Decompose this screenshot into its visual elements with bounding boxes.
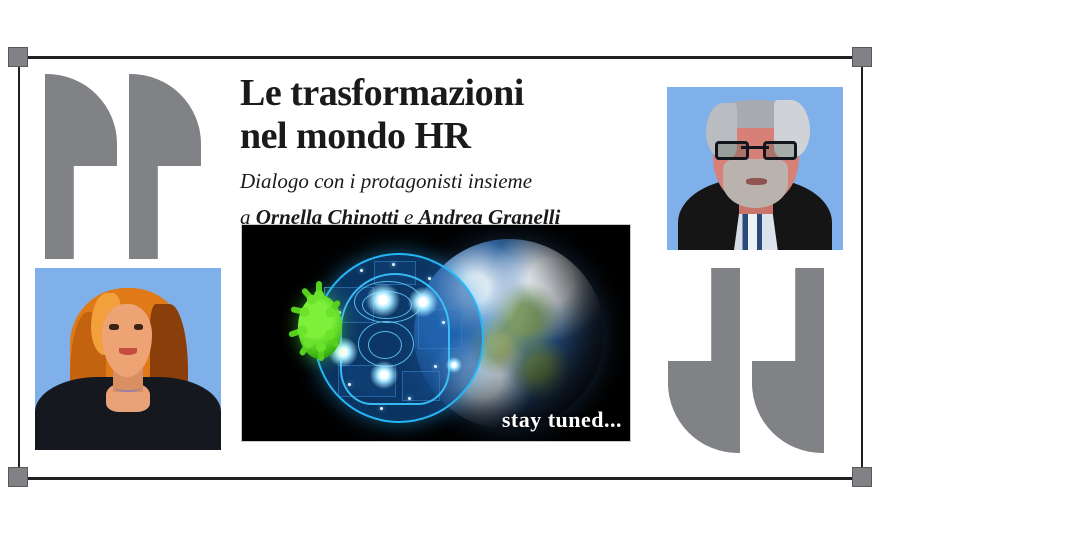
light-dot xyxy=(392,263,395,266)
node-glow xyxy=(370,361,398,389)
node-glow xyxy=(366,283,400,317)
glasses-bridge xyxy=(741,146,769,149)
light-dot xyxy=(428,277,431,280)
light-dot xyxy=(408,397,411,400)
page-subtitle: Dialogo con i protagonisti insieme xyxy=(240,169,640,194)
corner-handle-top-left[interactable] xyxy=(8,47,28,67)
frame-line-right xyxy=(861,56,863,480)
virus-spike xyxy=(316,281,322,295)
light-dot xyxy=(348,383,351,386)
virus-spike xyxy=(318,347,324,361)
page-title-line-2: nel mondo HR xyxy=(240,115,640,158)
node-glow xyxy=(446,357,462,373)
lens-right xyxy=(763,141,798,161)
virus-icon xyxy=(286,281,348,373)
quote-glyph-right xyxy=(129,74,201,259)
quote-glyph-left xyxy=(668,268,740,453)
frame-line-bottom xyxy=(18,477,863,480)
node-glow xyxy=(408,287,438,317)
closing-quote-icon xyxy=(668,268,824,453)
poster-canvas: Le trasformazioni nel mondo HR Dialogo c… xyxy=(0,0,1066,542)
corner-handle-bottom-left[interactable] xyxy=(8,467,28,487)
corner-handle-top-right[interactable] xyxy=(852,47,872,67)
necklace xyxy=(115,384,141,391)
portrait-ornella-chinotti xyxy=(35,268,221,450)
opening-quote-icon xyxy=(45,74,201,259)
frame-line-left xyxy=(18,56,20,480)
virus-spike xyxy=(301,287,315,302)
light-dot xyxy=(380,407,383,410)
brain-fold xyxy=(368,331,402,359)
portrait-andrea-granelli xyxy=(667,87,843,250)
eye-right xyxy=(134,324,143,329)
light-dot xyxy=(442,321,445,324)
headline-block: Le trasformazioni nel mondo HR Dialogo c… xyxy=(240,72,640,230)
page-title-line-1: Le trasformazioni xyxy=(240,72,640,115)
virus-spike xyxy=(290,306,305,315)
lens-left xyxy=(715,141,750,161)
eye-left xyxy=(109,324,118,329)
frame-line-top xyxy=(18,56,863,59)
quote-glyph-left xyxy=(45,74,117,259)
light-dot xyxy=(434,365,437,368)
stay-tuned-caption: stay tuned... xyxy=(502,407,622,433)
glasses-icon xyxy=(715,141,798,161)
quote-glyph-right xyxy=(752,268,824,453)
light-dot xyxy=(360,269,363,272)
corner-handle-bottom-right[interactable] xyxy=(852,467,872,487)
hero-image: stay tuned... xyxy=(241,224,631,442)
mouth-shape xyxy=(746,178,767,185)
